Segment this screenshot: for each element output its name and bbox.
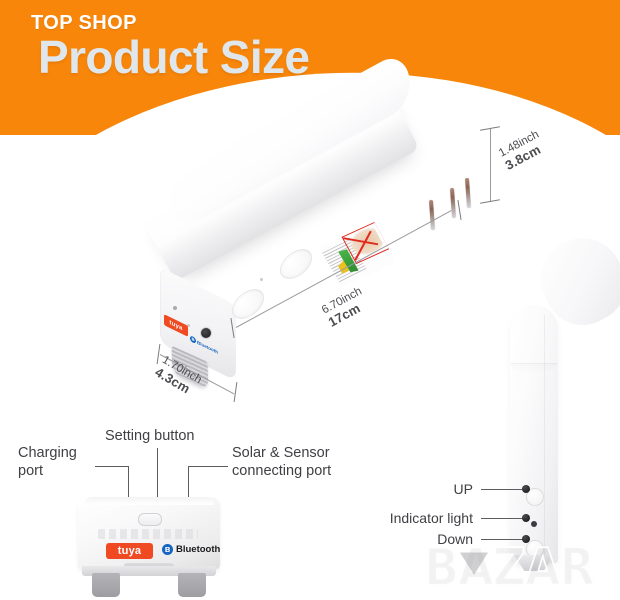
vent-slot-1: [429, 200, 435, 230]
height-line: [490, 129, 491, 202]
small-device-tuya-logo: tuya: [106, 543, 153, 559]
label-charging-port: Charging port: [18, 445, 77, 481]
product-led-indicator: [173, 306, 177, 310]
right-device-foot: [514, 555, 554, 571]
product-size-infographic: TOP SHOP Product Size: [0, 0, 620, 600]
height-tick-bottom: [480, 199, 500, 204]
label-up: UP: [410, 481, 473, 497]
leader-down: [481, 539, 526, 540]
bluetooth-icon: в: [162, 544, 173, 555]
small-device-embossed-text: [98, 529, 198, 539]
page-title: Product Size: [38, 30, 309, 84]
product-top-pinhole: [260, 278, 263, 281]
product-top-button-1[interactable]: [278, 243, 315, 284]
leader-solar-sensor-h: [188, 466, 228, 467]
right-device-illustration: [510, 305, 562, 575]
dot-down-button: [522, 535, 530, 543]
vent-slot-3: [465, 178, 471, 208]
small-device-bluetooth-logo: в Bluetooth: [162, 544, 220, 555]
small-device-top-strip: [84, 497, 214, 505]
product-bar: tuya в Bluetooth: [150, 120, 480, 390]
right-device-indicator-led: [531, 521, 537, 527]
small-device-front-view: tuya в Bluetooth: [78, 497, 220, 592]
vent-slot-2: [450, 188, 456, 218]
dot-indicator-light: [522, 514, 530, 522]
leader-indicator-light: [481, 518, 526, 519]
label-solar-sensor-port: Solar & Sensor connecting port: [232, 445, 331, 481]
small-device-clip-right: [178, 573, 206, 597]
small-device-setting-button[interactable]: [138, 513, 162, 526]
leader-charging-port-h: [95, 466, 129, 467]
product-warning-label: [318, 222, 397, 288]
watermark-triangle-icon: [460, 552, 488, 574]
leader-up: [481, 489, 526, 490]
right-device-seam: [511, 363, 557, 373]
label-down: Down: [404, 531, 473, 547]
height-dimension-text: 1.48inch 3.8cm: [497, 129, 548, 174]
product-connector-port[interactable]: [201, 328, 211, 338]
label-indicator-light: Indicator light: [370, 510, 473, 526]
tuya-logo-text: tuya: [118, 545, 141, 557]
small-device-clip-left: [92, 573, 120, 597]
dot-up-button: [522, 485, 530, 493]
label-setting-button: Setting button: [105, 428, 195, 446]
right-device-edge-highlight: [544, 315, 545, 555]
bluetooth-logo-text: Bluetooth: [176, 544, 220, 555]
